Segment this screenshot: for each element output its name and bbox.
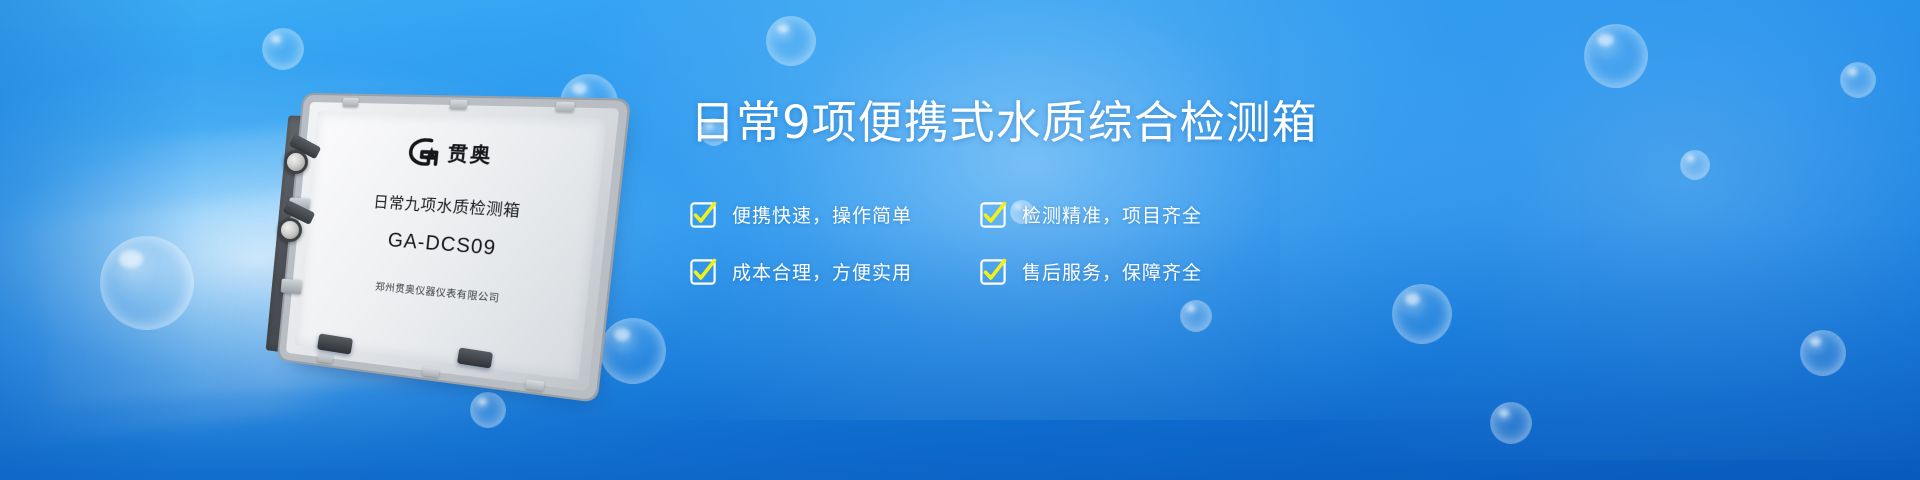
bubble-decoration — [1680, 150, 1710, 180]
ga-logo-icon — [408, 137, 442, 166]
case-wheel — [284, 150, 308, 174]
case-title: 日常九项水质检测箱 — [372, 190, 521, 221]
brand-lockup: 贯奥 — [408, 137, 495, 169]
bubble-decoration — [1800, 330, 1846, 376]
bubble-decoration — [470, 392, 506, 428]
case-corner-bracket — [450, 100, 468, 110]
checkbox-checked-icon — [980, 202, 1006, 228]
headline: 日常9项便携式水质综合检测箱 — [690, 96, 1430, 149]
feature-item: 成本合理，方便实用 — [690, 258, 980, 285]
case-wheel — [278, 218, 302, 242]
case-company: 郑州贯奥仪器仪表有限公司 — [375, 278, 501, 305]
bubble-decoration — [1490, 402, 1532, 444]
bubble-decoration — [1584, 24, 1648, 88]
feature-label: 售后服务，保障齐全 — [1022, 258, 1202, 285]
case-corner-bracket — [342, 98, 359, 108]
feature-label: 成本合理，方便实用 — [732, 258, 912, 285]
feature-item: 售后服务，保障齐全 — [980, 258, 1270, 285]
case-latch — [281, 279, 303, 295]
case-model: GA-DCS09 — [387, 230, 498, 262]
promo-banner: 贯奥 日常九项水质检测箱 GA-DCS09 郑州贯奥仪器仪表有限公司 — [0, 0, 1920, 480]
case-corner-bracket — [555, 102, 575, 112]
bubble-decoration — [1392, 284, 1452, 344]
bubble-decoration — [1840, 62, 1876, 98]
checkbox-checked-icon — [690, 259, 716, 285]
bubble-decoration — [262, 28, 304, 70]
brand-name: 贯奥 — [446, 138, 494, 169]
checkbox-checked-icon — [690, 202, 716, 228]
feature-label: 便携快速，操作简单 — [732, 201, 912, 228]
case-corner-bracket — [317, 353, 333, 364]
bubble-decoration — [1180, 300, 1212, 332]
case-corner-bracket — [422, 366, 440, 378]
feature-list: 便携快速，操作简单检测精准，项目齐全成本合理，方便实用售后服务，保障齐全 — [690, 201, 1430, 285]
banner-content: 日常9项便携式水质综合检测箱 便携快速，操作简单检测精准，项目齐全成本合理，方便… — [690, 96, 1430, 285]
bubble-decoration — [100, 236, 194, 330]
feature-label: 检测精准，项目齐全 — [1022, 201, 1202, 228]
checkbox-checked-icon — [980, 259, 1006, 285]
bubble-decoration — [766, 16, 816, 66]
feature-item: 便携快速，操作简单 — [690, 201, 980, 228]
product-image: 贯奥 日常九项水质检测箱 GA-DCS09 郑州贯奥仪器仪表有限公司 — [270, 78, 610, 378]
feature-item: 检测精准，项目齐全 — [980, 201, 1270, 228]
